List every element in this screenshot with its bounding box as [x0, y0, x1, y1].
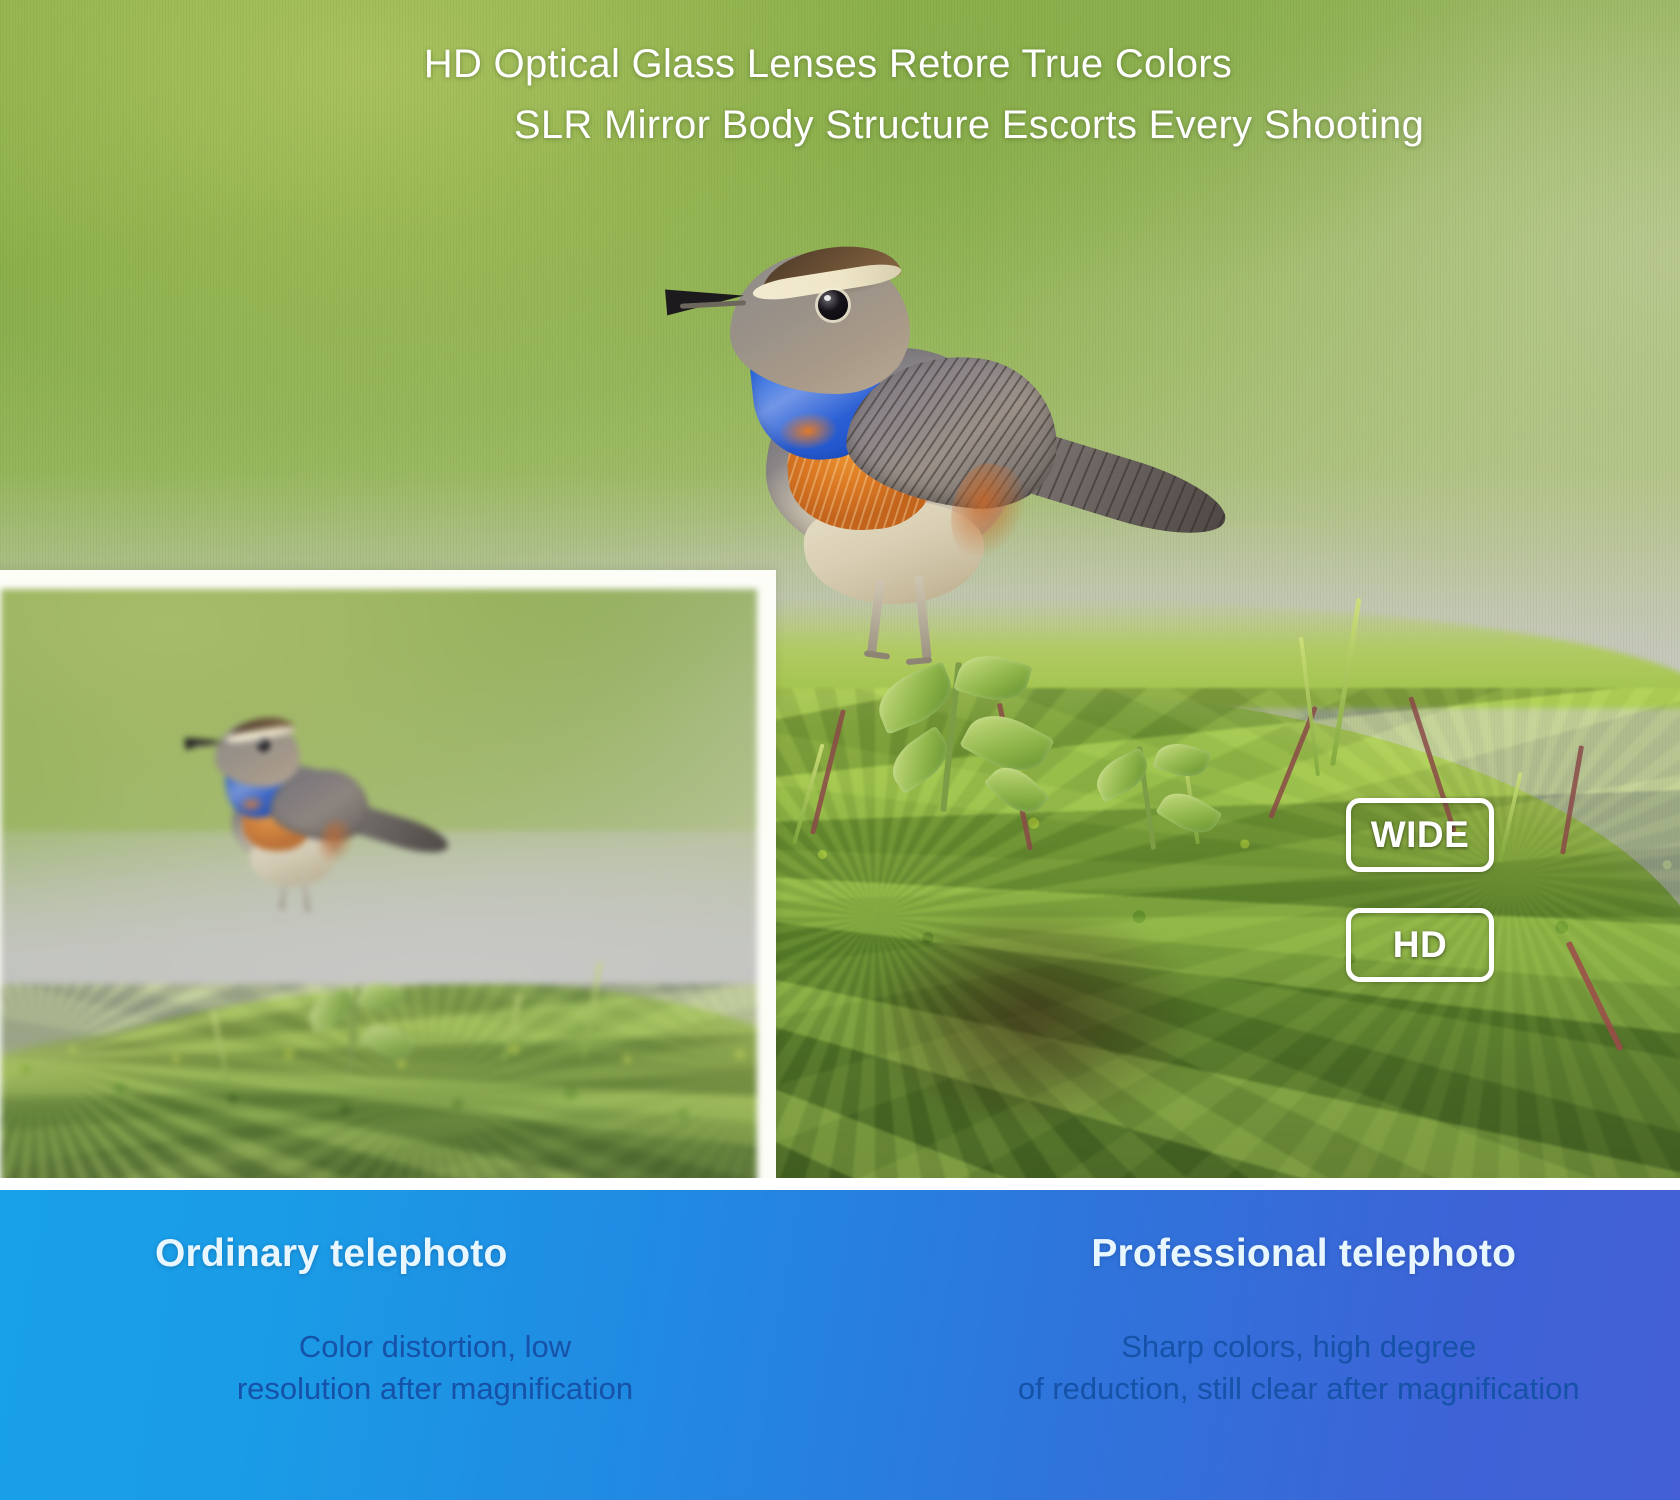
promo-image: WIDE HD — [0, 0, 1680, 1500]
bluethroat-bird-blurred — [201, 709, 464, 906]
hd-badge[interactable]: HD — [1346, 908, 1494, 982]
wide-badge[interactable]: WIDE — [1346, 798, 1494, 872]
bird-eye — [818, 290, 848, 320]
comparison-caption-bar: Ordinary telephoto Color distortion, low… — [0, 1190, 1680, 1500]
inset-photo-blurred — [1, 589, 757, 1178]
wide-badge-label: WIDE — [1371, 814, 1470, 856]
inset-bird-eye — [256, 738, 270, 752]
bank-shadow-patch — [800, 888, 1260, 1178]
ordinary-description-line-1: Color distortion, low — [155, 1326, 715, 1368]
leafy-sprig — [862, 648, 1092, 828]
ordinary-telephoto-title: Ordinary telephoto — [155, 1232, 507, 1276]
feature-badge-group: WIDE HD — [1346, 798, 1494, 982]
inset-leafy-sprig — [301, 981, 431, 1081]
professional-telephoto-title: Professional telephoto — [1091, 1232, 1516, 1276]
ordinary-description-line-2: resolution after magnification — [155, 1368, 715, 1410]
hd-badge-label: HD — [1393, 924, 1447, 966]
leafy-sprig-secondary — [1086, 740, 1236, 860]
caption-column-ordinary: Ordinary telephoto Color distortion, low… — [0, 1190, 918, 1500]
main-photo-professional-telephoto: WIDE HD — [0, 0, 1680, 1178]
caption-column-professional: Professional telephoto Sharp colors, hig… — [918, 1190, 1680, 1500]
ordinary-telephoto-description: Color distortion, low resolution after m… — [155, 1326, 715, 1409]
bluethroat-bird-sharp — [700, 228, 1260, 648]
inset-photo-frame-ordinary-telephoto — [0, 570, 776, 1178]
professional-telephoto-description: Sharp colors, high degree of reduction, … — [919, 1326, 1679, 1409]
professional-description-line-1: Sharp colors, high degree — [919, 1326, 1679, 1368]
professional-description-line-2: of reduction, still clear after magnific… — [919, 1368, 1679, 1410]
